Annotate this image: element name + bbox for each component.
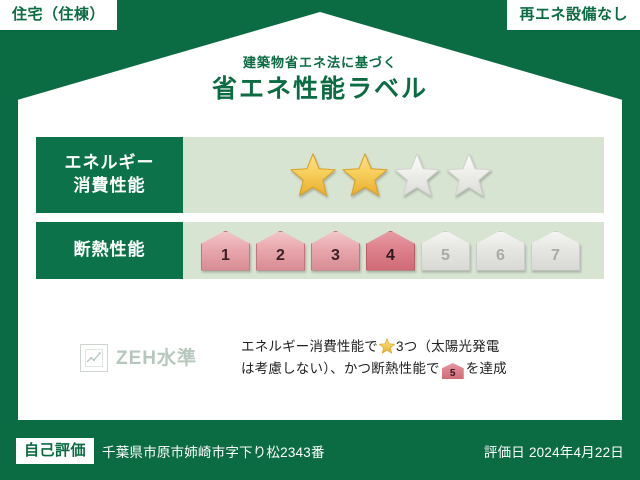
star-icon-1 xyxy=(290,152,336,198)
achievement-note-part2: 3つ（太陽光発電 xyxy=(396,339,500,354)
row-energy-label-line2: 消費性能 xyxy=(74,175,146,198)
building-type-tag: 住宅（住棟） xyxy=(0,0,117,30)
achievement-note-part3: は考慮しない）、かつ断熱性能で xyxy=(241,361,440,376)
star-icon-inline xyxy=(379,338,395,354)
insulation-badge-5-number: 5 xyxy=(441,248,450,271)
row-insulation-label: 断熱性能 xyxy=(36,222,183,279)
insulation-badge-7-number: 7 xyxy=(551,248,560,271)
row-insulation-performance: 断熱性能 1 2 3 4 xyxy=(36,222,604,279)
row-energy-label: エネルギー 消費性能 xyxy=(36,137,183,213)
insulation-badge-3: 3 xyxy=(311,231,360,271)
achievement-note-part1: エネルギー消費性能で xyxy=(241,339,378,354)
insulation-badge-4-number: 4 xyxy=(386,248,395,271)
achievement-note: エネルギー消費性能で3つ（太陽光発電は考慮しない）、かつ断熱性能で5を達成 xyxy=(241,336,604,381)
house-badge-inline-number: 5 xyxy=(442,363,464,384)
energy-performance-label: 住宅（住棟） 再エネ設備なし 建築物省エネ法に基づく 省エネ性能ラベル エネルギ… xyxy=(0,0,640,480)
zeh-standard-label: ZEH水準 xyxy=(116,349,197,368)
row-insulation-label-line1: 断熱性能 xyxy=(74,239,146,262)
zeh-note-section: ZEH水準 エネルギー消費性能で3つ（太陽光発電は考慮しない）、かつ断熱性能で5… xyxy=(36,322,604,394)
row-energy-stars xyxy=(183,137,604,213)
insulation-badge-5: 5 xyxy=(421,231,470,271)
heading-subtitle: 建築物省エネ法に基づく xyxy=(0,55,640,71)
star-icon-3 xyxy=(394,152,440,198)
self-evaluation-tag: 自己評価 xyxy=(16,438,94,464)
performance-rows: エネルギー 消費性能 xyxy=(36,137,604,288)
zeh-standard-block: ZEH水準 xyxy=(36,344,241,372)
insulation-badge-2: 2 xyxy=(256,231,305,271)
insulation-badge-6-number: 6 xyxy=(496,248,505,271)
zeh-icon xyxy=(80,344,108,372)
row-insulation-badges: 1 2 3 4 5 xyxy=(183,222,604,279)
insulation-badge-4: 4 xyxy=(366,231,415,271)
insulation-badge-1: 1 xyxy=(201,231,250,271)
evaluation-date: 評価日 2024年4月22日 xyxy=(484,441,624,461)
star-icon-4 xyxy=(446,152,492,198)
house-badge-inline: 5 xyxy=(442,363,464,379)
renewable-energy-tag: 再エネ設備なし xyxy=(507,0,640,30)
star-icon-2 xyxy=(342,152,388,198)
footer-bar: 自己評価 千葉県市原市姉崎市字下り松2343番 評価日 2024年4月22日 xyxy=(0,422,640,480)
heading-title: 省エネ性能ラベル xyxy=(0,74,640,105)
insulation-badge-7: 7 xyxy=(531,231,580,271)
property-address: 千葉県市原市姉崎市字下り松2343番 xyxy=(102,441,325,461)
page-title: 建築物省エネ法に基づく 省エネ性能ラベル xyxy=(0,55,640,105)
row-energy-performance: エネルギー 消費性能 xyxy=(36,137,604,213)
insulation-badge-3-number: 3 xyxy=(331,248,340,271)
insulation-badge-6: 6 xyxy=(476,231,525,271)
insulation-badge-2-number: 2 xyxy=(276,248,285,271)
insulation-badge-1-number: 1 xyxy=(221,248,230,271)
achievement-note-part4: を達成 xyxy=(466,361,507,376)
row-energy-label-line1: エネルギー xyxy=(65,152,155,175)
